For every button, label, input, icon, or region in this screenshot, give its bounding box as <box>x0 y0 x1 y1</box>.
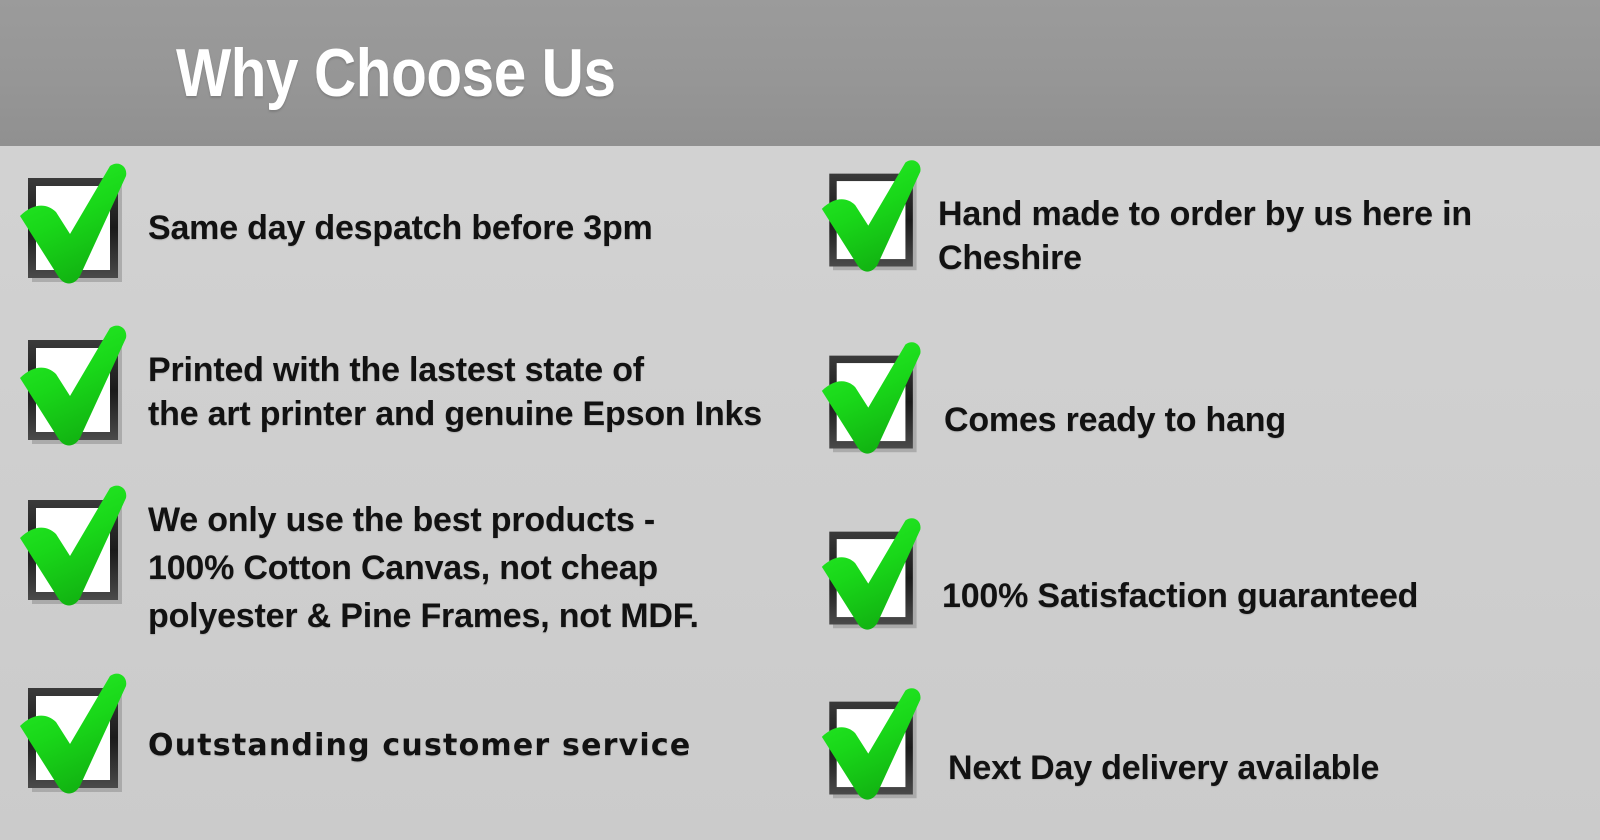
green-checkmark-icon <box>820 688 924 810</box>
list-item-label: Same day despatch before 3pm <box>148 206 788 250</box>
list-item: Hand made to order by us here in Cheshir… <box>820 160 1538 282</box>
green-checkmark-icon <box>820 518 924 640</box>
green-checkmark-icon <box>18 326 130 456</box>
green-checkmark-icon <box>820 342 924 464</box>
features-column-right: Hand made to order by us here in Cheshir… <box>800 146 1600 840</box>
features-area: Same day despatch before 3pm Printed wit… <box>0 146 1600 840</box>
list-item: We only use the best products - 100% Cot… <box>18 486 788 640</box>
list-item-label: Next Day delivery available <box>948 746 1548 790</box>
list-item: Printed with the lastest state of the ar… <box>18 326 798 456</box>
header-band: Why Choose Us Why Choose Us <box>0 0 1600 146</box>
list-item: Next Day delivery available <box>820 688 1548 810</box>
features-column-left: Same day despatch before 3pm Printed wit… <box>0 146 800 840</box>
green-checkmark-icon <box>18 674 130 804</box>
green-checkmark-icon <box>18 164 130 294</box>
header-column-right: Why Choose Us <box>800 0 1600 146</box>
page-title-left: Why Choose Us <box>176 39 616 107</box>
list-item-label: 100% Satisfaction guaranteed <box>942 574 1542 618</box>
list-item-label: Comes ready to hang <box>944 398 1544 442</box>
green-checkmark-icon <box>820 160 924 282</box>
green-checkmark-icon <box>18 486 130 616</box>
why-choose-us-banner: Why Choose Us Why Choose Us <box>0 0 1600 840</box>
list-item-label: Printed with the lastest state of the ar… <box>148 348 798 436</box>
list-item-label: We only use the best products - 100% Cot… <box>148 496 788 640</box>
list-item: Same day despatch before 3pm <box>18 164 788 294</box>
list-item: Outstanding customer service <box>18 674 788 804</box>
list-item: 100% Satisfaction guaranteed <box>820 518 1542 640</box>
header-column-left: Why Choose Us <box>0 0 800 146</box>
list-item-label: Hand made to order by us here in Cheshir… <box>938 192 1538 280</box>
list-item-label: Outstanding customer service <box>148 724 788 768</box>
list-item: Comes ready to hang <box>820 342 1544 464</box>
